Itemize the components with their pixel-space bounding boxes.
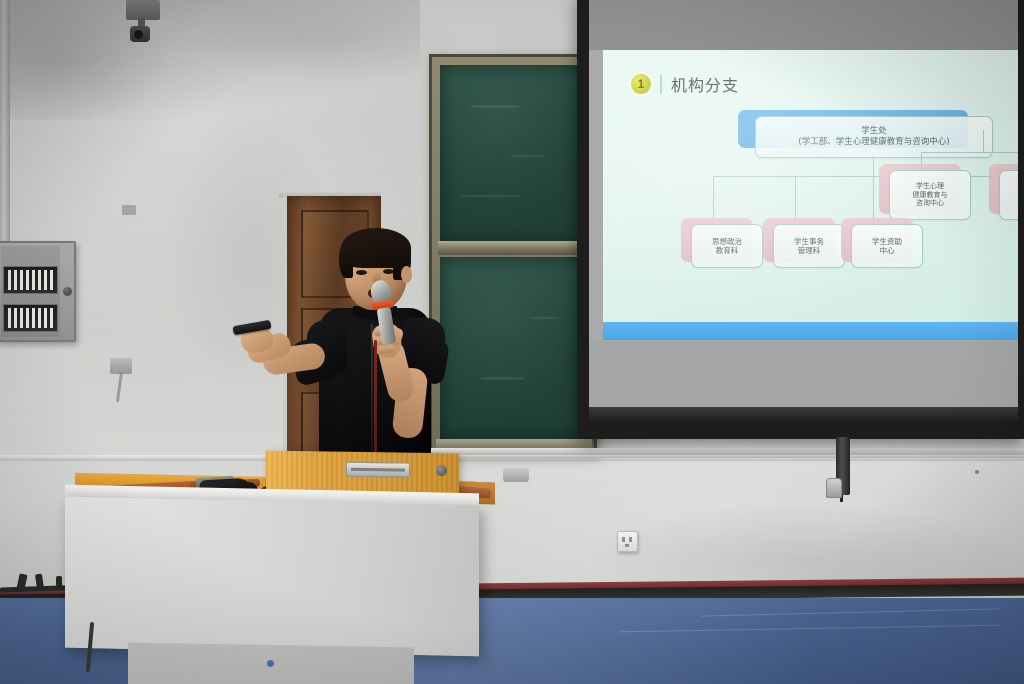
- camera-mount: [126, 0, 160, 20]
- connector-left-1: [713, 176, 714, 224]
- connector-left-2: [795, 176, 796, 224]
- projector-screen-surface: 1 机构分支 学生处 (学工部、学生心理健康教育与咨询中心): [589, 0, 1018, 423]
- org-chart: 学生处 (学工部、学生心理健康教育与咨询中心): [603, 108, 1018, 308]
- wall-hook-icon: [122, 205, 136, 215]
- slide-header: 1 机构分支: [631, 72, 739, 96]
- connector-right-stem: [983, 130, 984, 152]
- root-box-line1: 学生处: [861, 126, 887, 137]
- camera-lens: [134, 30, 143, 39]
- org-box-2: 学生事务 管理科: [773, 224, 845, 268]
- screen-top-band: [589, 0, 1018, 50]
- panel-inner: [1, 246, 60, 337]
- root-box-line2: (学工部、学生心理健康教育与咨询中心): [798, 137, 949, 148]
- projector-screen: 1 机构分支 学生处 (学工部、学生心理健康教育与咨询中心): [577, 0, 1024, 439]
- podium-base-lock[interactable]: [267, 660, 274, 667]
- box-4-line3: 咨询中心: [916, 199, 944, 208]
- microphone-body: [377, 307, 396, 345]
- box-1-line1: 思想政治: [712, 237, 742, 246]
- connector-left-3: [873, 176, 874, 224]
- org-box-1: 思想政治 教育科: [691, 224, 763, 268]
- wall-conduit: [0, 0, 10, 250]
- slide-heading: 机构分支: [671, 72, 739, 96]
- electrical-breaker-panel[interactable]: [0, 241, 76, 342]
- org-box-3: 学生资助 中心: [851, 224, 923, 268]
- wall-outlet[interactable]: [617, 531, 638, 552]
- security-camera-icon: [118, 0, 160, 44]
- slide-number-badge: 1: [631, 74, 651, 94]
- breaker-row-top[interactable]: [3, 266, 58, 294]
- box-3-line2: 中心: [880, 246, 895, 255]
- screen-cable-clip: [826, 478, 842, 498]
- projected-slide: 1 机构分支 学生处 (学工部、学生心理健康教育与咨询中心): [603, 50, 1018, 340]
- hair-left-side: [339, 244, 353, 278]
- screen-bottom-edge: [589, 407, 1018, 423]
- presenter: [255, 228, 470, 478]
- box-3-line1: 学生资助: [872, 237, 902, 246]
- box-1-line2: 教育科: [716, 246, 739, 255]
- org-box-5: 学生工作 发展研究 中心: [999, 170, 1018, 220]
- podium-body: [65, 497, 479, 657]
- lectern-knob[interactable]: [436, 465, 447, 476]
- microphone-cord: [374, 340, 377, 468]
- box-2-line1: 学生事务: [794, 237, 824, 246]
- lectern-handle[interactable]: [346, 462, 410, 478]
- wall-ledge-line: [0, 455, 1024, 461]
- lecture-hall-scene: 1 机构分支 学生处 (学工部、学生心理健康教育与咨询中心): [0, 0, 1024, 684]
- header-divider: [660, 75, 662, 94]
- connector-right-horizontal: [921, 152, 1018, 153]
- ceiling-shadow: [0, 0, 420, 120]
- connector-horizontal-main: [713, 176, 1018, 177]
- org-box-4: 学生心理 健康教育与 咨询中心: [889, 170, 971, 220]
- chalkboard-upper-panel: [440, 65, 588, 243]
- slide-accent-bar: [603, 322, 1018, 340]
- box-2-line2: 管理科: [798, 246, 821, 255]
- box-4-line1: 学生心理: [916, 182, 944, 191]
- panel-lock-knob[interactable]: [63, 287, 72, 296]
- ear: [401, 266, 412, 283]
- wall-pipe: [503, 468, 529, 482]
- connector-root-down: [873, 156, 874, 176]
- breaker-row-bottom[interactable]: [3, 304, 58, 332]
